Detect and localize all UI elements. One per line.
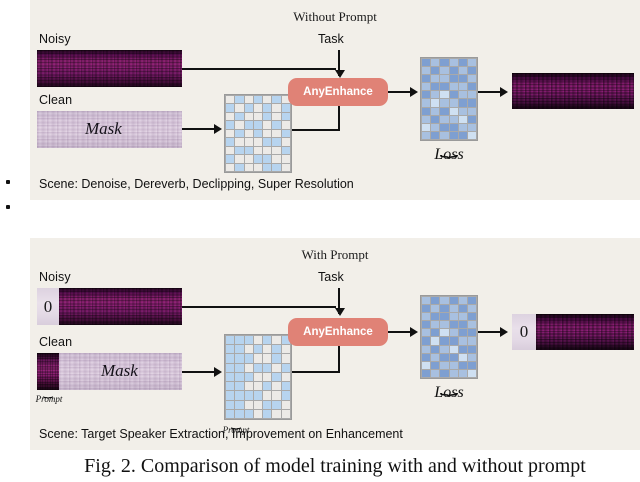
grid-cell [226,130,234,137]
grid-cell [263,364,271,372]
grid-cell [440,99,448,106]
grid-cell [282,354,290,362]
grid-cell [245,113,253,120]
clean-to-grid-arrow-bottom [214,367,222,377]
task-arrow-bottom [335,308,345,316]
grid-cell [235,336,243,344]
clean-prompt-label-bottom: Prompt [32,394,66,404]
grid-cell [431,132,439,139]
grid-cell [459,99,467,106]
grid-cell [272,354,280,362]
grid-cell [235,164,243,171]
grid-cell [282,164,290,171]
grid-cell [235,401,243,409]
grid-cell [282,401,290,409]
grid-cell [468,329,476,336]
grid-cell [440,321,448,328]
output-prompt-token-bottom: 0 [512,314,536,350]
grid-cell [440,305,448,312]
grid-cell [263,130,271,137]
grid-cell [254,373,262,381]
grid-cell [459,337,467,344]
clean-to-grid-line-top [182,128,214,130]
grid-cell [422,329,430,336]
grid-cell [263,104,271,111]
grid-cell [245,391,253,399]
grid-cell [282,382,290,390]
grid-cell [282,121,290,128]
grid-cell [440,75,448,82]
grid-cell [440,337,448,344]
grid-cell [468,313,476,320]
grid-cell [440,354,448,361]
grid-cell [254,354,262,362]
output-spectrogram-bottom [536,314,634,350]
grid-cell [422,67,430,74]
clean-to-grid-line-bottom [182,371,214,373]
grid-cell [450,108,458,115]
grid-cell [226,121,234,128]
grid-cell [254,155,262,162]
clean-mask-spectrogram-top: Mask [37,111,182,148]
grid-cell [245,364,253,372]
grid-cell [235,130,243,137]
grid-cell [440,124,448,131]
grid-cell [459,370,467,377]
grid-cell [468,337,476,344]
grid-cell [459,124,467,131]
grid-cell [245,401,253,409]
grid-cell [431,362,439,369]
task-label-bottom: Task [318,270,344,284]
grid-cell [422,75,430,82]
grid-cell [282,104,290,111]
grid-cell [431,305,439,312]
grid-cell [226,364,234,372]
grid-cell [272,138,280,145]
grid-cell [422,91,430,98]
grid-cell [450,362,458,369]
grid-cell [422,370,430,377]
grid-cell [226,354,234,362]
grid-cell [263,391,271,399]
grid-cell [245,382,253,390]
grid-cell [263,96,271,103]
grid-cell [440,91,448,98]
grid-cell [254,391,262,399]
noisy-row-bottom: 0 [37,288,182,325]
grid-cell [226,345,234,353]
grid-cell [450,59,458,66]
grid-cell [422,99,430,106]
grid-cell [272,336,280,344]
grid-cell [263,147,271,154]
grid-cell [468,67,476,74]
grid-cell [459,329,467,336]
grid-cell [459,321,467,328]
grid-cell [282,373,290,381]
grid-cell [431,337,439,344]
grid-cell [226,96,234,103]
grid-cell [272,410,280,418]
grid-cell [235,113,243,120]
grid-cell [272,164,280,171]
loss-grid-top [420,57,478,141]
grid-cell [422,346,430,353]
grid-cell [263,354,271,362]
grid-cell [431,329,439,336]
noisy-label-bottom: Noisy [39,270,71,284]
model-to-loss-line-top [388,91,410,93]
grid-cell [226,113,234,120]
grid-cell [235,364,243,372]
grid-cell [459,313,467,320]
clean-to-grid-arrow-top [214,124,222,134]
grid-cell [468,91,476,98]
panel-with-prompt: With Prompt Noisy 0 Clean Mask ⏟ Prompt … [30,238,640,450]
grid-cell [226,104,234,111]
grid-cell [263,410,271,418]
grid-cell [245,164,253,171]
grid-cell [468,297,476,304]
grid-cell [459,132,467,139]
grid-cell [468,99,476,106]
grid-cell [272,391,280,399]
grid-cell [431,346,439,353]
grid-cell [459,108,467,115]
grid-cell [422,354,430,361]
grid-cell [235,345,243,353]
noisy-spectrogram-top [37,50,182,87]
grid-cell [245,147,253,154]
grid-cell [235,104,243,111]
grid-to-model-line-top [292,129,340,131]
grid-cell [431,83,439,90]
grid-cell [468,370,476,377]
loss-label-bottom: Loss [420,384,478,402]
mask-label-bottom: Mask [101,361,138,381]
grid-cell [450,75,458,82]
grid-cell [459,297,467,304]
grid-cell [282,147,290,154]
grid-cell [226,401,234,409]
scene-text-bottom: Scene: Target Speaker Extraction, Improv… [39,427,403,441]
grid-cell [226,155,234,162]
grid-cell [468,321,476,328]
grid-cell [431,321,439,328]
loss-to-output-arrow-bottom [500,327,508,337]
grid-cell [282,364,290,372]
grid-cell [431,67,439,74]
grid-cell [245,373,253,381]
grid-cell [254,336,262,344]
grid-cell [282,113,290,120]
output-spectrogram-top [512,73,634,109]
grid-cell [468,83,476,90]
grid-cell [459,75,467,82]
grid-cell [459,83,467,90]
grid-cell [450,313,458,320]
grid-cell [245,336,253,344]
grid-cell [459,354,467,361]
grid-cell [226,382,234,390]
grid-cell [450,83,458,90]
grid-cell [422,313,430,320]
grid-cell [263,401,271,409]
grid-cell [440,329,448,336]
grid-cell [422,59,430,66]
noisy-prompt-token-bottom: 0 [37,288,59,325]
grid-cell [431,370,439,377]
grid-cell [254,113,262,120]
grid-cell [431,313,439,320]
task-arrow-top [335,70,345,78]
mask-label-top: Mask [85,119,122,139]
grid-cell [235,382,243,390]
grid-cell [226,391,234,399]
grid-cell [272,96,280,103]
grid-cell [468,108,476,115]
grid-cell [468,132,476,139]
grid-cell [226,373,234,381]
grid-cell [263,121,271,128]
grid-cell [272,373,280,381]
grid-cell [459,362,467,369]
grid-cell [272,104,280,111]
grid-cell [440,297,448,304]
margin-text-fragment-1 [6,180,10,184]
grid-cell [422,337,430,344]
grid-cell [450,346,458,353]
grid-cell [226,410,234,418]
grid-cell [440,116,448,123]
grid-cell [431,108,439,115]
model-to-loss-arrow-bottom [410,327,418,337]
grid-cell [450,67,458,74]
grid-cell [431,116,439,123]
grid-cell [272,113,280,120]
grid-cell [450,321,458,328]
grid-cell [422,83,430,90]
grid-cell [440,67,448,74]
scene-text-top: Scene: Denoise, Dereverb, Declipping, Su… [39,177,354,191]
grid-cell [431,75,439,82]
grid-cell [431,354,439,361]
grid-cell [272,155,280,162]
grid-cell [282,410,290,418]
grid-cell [263,155,271,162]
grid-cell [282,130,290,137]
clean-prompt-segment-bottom [37,353,59,390]
grid-cell [245,130,253,137]
grid-cell [468,354,476,361]
grid-cell [254,410,262,418]
anyenhance-model-box-top[interactable]: AnyEnhance [288,78,388,106]
grid-cell [468,75,476,82]
grid-cell [422,362,430,369]
grid-cell [235,155,243,162]
grid-cell [459,67,467,74]
grid-cell [254,121,262,128]
grid-cell [440,59,448,66]
grid-to-model-line-bottom [292,371,340,373]
mask-grid-bottom [224,334,292,420]
loss-label-top: Loss [420,146,478,164]
prompt-token-glyph-output: 0 [520,322,529,342]
grid-cell [235,373,243,381]
grid-to-model-riser-top [338,104,340,130]
grid-cell [422,132,430,139]
grid-cell [431,99,439,106]
grid-cell [450,337,458,344]
grid-cell [282,345,290,353]
grid-cell [440,346,448,353]
grid-cell [235,147,243,154]
grid-cell [263,138,271,145]
grid-cell [254,138,262,145]
grid-cell [459,59,467,66]
grid-cell [440,108,448,115]
grid-cell [468,362,476,369]
grid-cell [254,96,262,103]
grid-cell [468,305,476,312]
grid-cell [254,164,262,171]
output-row-bottom: 0 [512,314,634,350]
grid-cell [272,382,280,390]
grid-cell [226,147,234,154]
model-to-loss-line-bottom [388,331,410,333]
grid-cell [440,362,448,369]
grid-cell [235,121,243,128]
grid-cell [245,354,253,362]
grid-cell [263,113,271,120]
grid-cell [226,138,234,145]
mask-grid-top [224,94,292,173]
grid-cell [245,138,253,145]
grid-cell [422,297,430,304]
grid-cell [254,104,262,111]
loss-to-output-line-top [478,91,500,93]
margin-text-fragment-2 [6,205,10,209]
grid-cell [468,116,476,123]
grid-cell [263,164,271,171]
grid-cell [245,96,253,103]
grid-cell [450,305,458,312]
grid-cell [254,130,262,137]
grid-cell [450,99,458,106]
grid-cell [235,138,243,145]
grid-cell [254,345,262,353]
grid-cell [459,346,467,353]
noisy-label-top: Noisy [39,32,71,46]
grid-cell [459,116,467,123]
clean-label-top: Clean [39,93,72,107]
grid-cell [235,96,243,103]
panel-without-prompt: Without Prompt Noisy Clean Mask Task Any… [30,0,640,200]
grid-cell [450,297,458,304]
grid-cell [245,410,253,418]
grid-cell [235,391,243,399]
grid-cell [282,155,290,162]
prompt-token-glyph-noisy: 0 [44,297,53,317]
loss-to-output-line-bottom [478,331,500,333]
grid-cell [272,130,280,137]
grid-cell [226,336,234,344]
grid-cell [245,155,253,162]
grid-cell [272,401,280,409]
model-to-loss-arrow-top [410,87,418,97]
grid-cell [272,121,280,128]
grid-cell [254,147,262,154]
grid-cell [422,116,430,123]
grid-cell [450,116,458,123]
clean-row-bottom: Mask [37,353,182,390]
grid-cell [431,59,439,66]
grid-cell [282,138,290,145]
grid-cell [245,121,253,128]
noisy-to-model-line-bottom [182,306,336,308]
grid-cell [450,329,458,336]
grid-cell [272,364,280,372]
grid-cell [431,91,439,98]
panel-title-with-prompt: With Prompt [30,247,640,263]
grid-cell [226,164,234,171]
grid-cell [450,91,458,98]
grid-cell [450,124,458,131]
grid-cell [459,305,467,312]
grid-cell [272,345,280,353]
grid-cell [254,401,262,409]
grid-cell [459,91,467,98]
grid-cell [263,382,271,390]
grid-cell [235,410,243,418]
grid-to-model-riser-bottom [338,344,340,372]
anyenhance-model-box-bottom[interactable]: AnyEnhance [288,318,388,346]
grid-cell [422,305,430,312]
clean-mask-spectrogram-bottom: Mask [59,353,182,390]
grid-cell [468,124,476,131]
figure-caption: Fig. 2. Comparison of model training wit… [30,455,640,478]
grid-cell [431,124,439,131]
grid-cell [245,345,253,353]
grid-cell [263,373,271,381]
grid-cell [422,321,430,328]
grid-cell [450,354,458,361]
grid-cell [422,124,430,131]
grid-cell [263,345,271,353]
grid-cell [468,346,476,353]
grid-cell [263,336,271,344]
clean-label-bottom: Clean [39,335,72,349]
grid-cell [282,391,290,399]
grid-cell [254,364,262,372]
task-label-top: Task [318,32,344,46]
panel-title-without-prompt: Without Prompt [30,9,640,25]
noisy-to-model-line-top [182,68,336,70]
grid-cell [254,382,262,390]
grid-cell [440,313,448,320]
grid-cell [422,108,430,115]
grid-cell [235,354,243,362]
noisy-spectrogram-bottom [59,288,182,325]
grid-cell [440,83,448,90]
grid-cell [245,104,253,111]
grid-cell [272,147,280,154]
grid-cell [431,297,439,304]
loss-to-output-arrow-top [500,87,508,97]
loss-grid-bottom [420,295,478,379]
grid-cell [468,59,476,66]
